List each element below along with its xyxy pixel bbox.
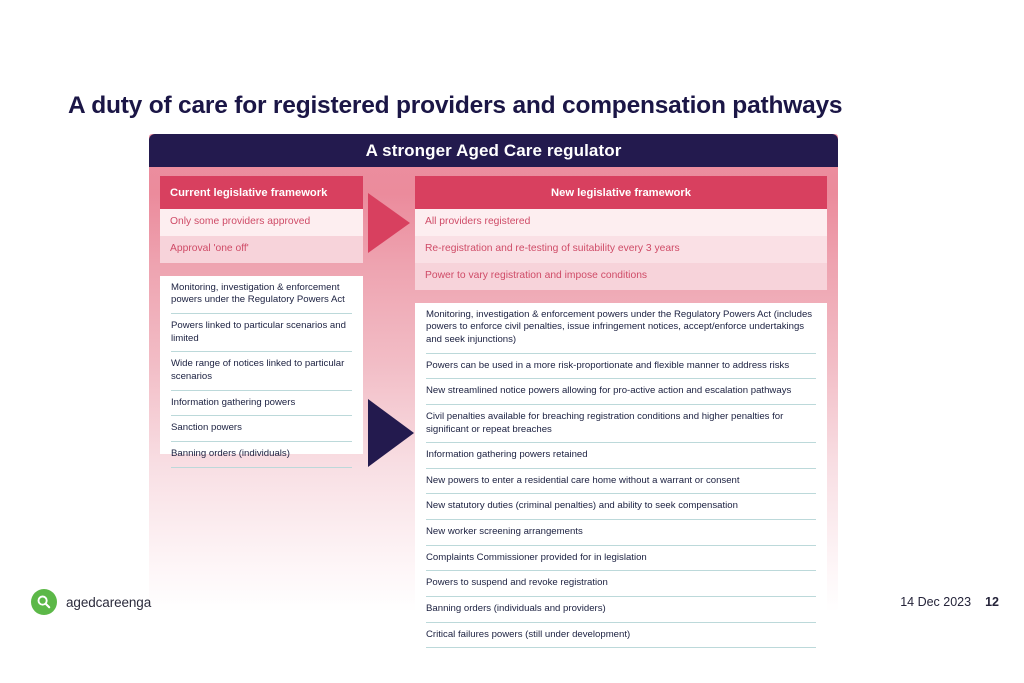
list-item: Powers to suspend and revoke registratio… xyxy=(426,571,816,597)
list-item: Approval 'one off' xyxy=(160,236,363,263)
list-item: Only some providers approved xyxy=(160,209,363,236)
magnifier-icon xyxy=(31,589,57,615)
list-item: Sanction powers xyxy=(171,416,352,442)
new-powers-card: Monitoring, investigation & enforcement … xyxy=(415,303,827,635)
list-item: Critical failures powers (still under de… xyxy=(426,623,816,649)
panel-header-title: A stronger Aged Care regulator xyxy=(366,141,622,161)
regulator-diagram-panel: A stronger Aged Care regulator Current l… xyxy=(149,134,838,612)
footer-date: 14 Dec 2023 xyxy=(900,595,971,609)
arrow-powers-icon xyxy=(368,399,414,467)
list-item: Powers can be used in a more risk-propor… xyxy=(426,354,816,380)
list-item: New streamlined notice powers allowing f… xyxy=(426,379,816,405)
list-item: Powers linked to particular scenarios an… xyxy=(171,314,352,352)
list-item: New powers to enter a residential care h… xyxy=(426,469,816,495)
list-item: Information gathering powers xyxy=(171,391,352,417)
list-item: Monitoring, investigation & enforcement … xyxy=(171,276,352,314)
current-powers-card: Monitoring, investigation & enforcement … xyxy=(160,276,363,454)
list-item: Civil penalties available for breaching … xyxy=(426,405,816,443)
list-item: All providers registered xyxy=(415,209,827,236)
new-framework-column: New legislative framework All providers … xyxy=(415,176,827,635)
arrow-registration-icon xyxy=(368,193,410,253)
new-framework-heading: New legislative framework xyxy=(415,176,827,209)
list-item: Banning orders (individuals) xyxy=(171,442,352,468)
current-framework-heading: Current legislative framework xyxy=(160,176,363,209)
list-item: Monitoring, investigation & enforcement … xyxy=(426,303,816,354)
panel-header-bar: A stronger Aged Care regulator xyxy=(149,134,838,167)
list-item: Power to vary registration and impose co… xyxy=(415,263,827,290)
list-item: New worker screening arrangements xyxy=(426,520,816,546)
current-registration-list: Only some providers approved Approval 'o… xyxy=(160,209,363,263)
footer-page-number: 12 xyxy=(985,595,999,609)
list-item: Banning orders (individuals and provider… xyxy=(426,597,816,623)
page-title: A duty of care for registered providers … xyxy=(68,92,842,120)
list-item: Re-registration and re-testing of suitab… xyxy=(415,236,827,263)
list-item: New statutory duties (criminal penalties… xyxy=(426,494,816,520)
new-registration-list: All providers registered Re-registration… xyxy=(415,209,827,290)
list-item: Complaints Commissioner provided for in … xyxy=(426,546,816,572)
brand-logo: agedcareenga xyxy=(31,589,151,615)
list-item: Wide range of notices linked to particul… xyxy=(171,352,352,390)
current-framework-column: Current legislative framework Only some … xyxy=(160,176,363,454)
brand-logo-text: agedcareenga xyxy=(66,595,151,610)
list-item: Information gathering powers retained xyxy=(426,443,816,469)
slide-footer: 14 Dec 2023 12 xyxy=(900,595,999,609)
